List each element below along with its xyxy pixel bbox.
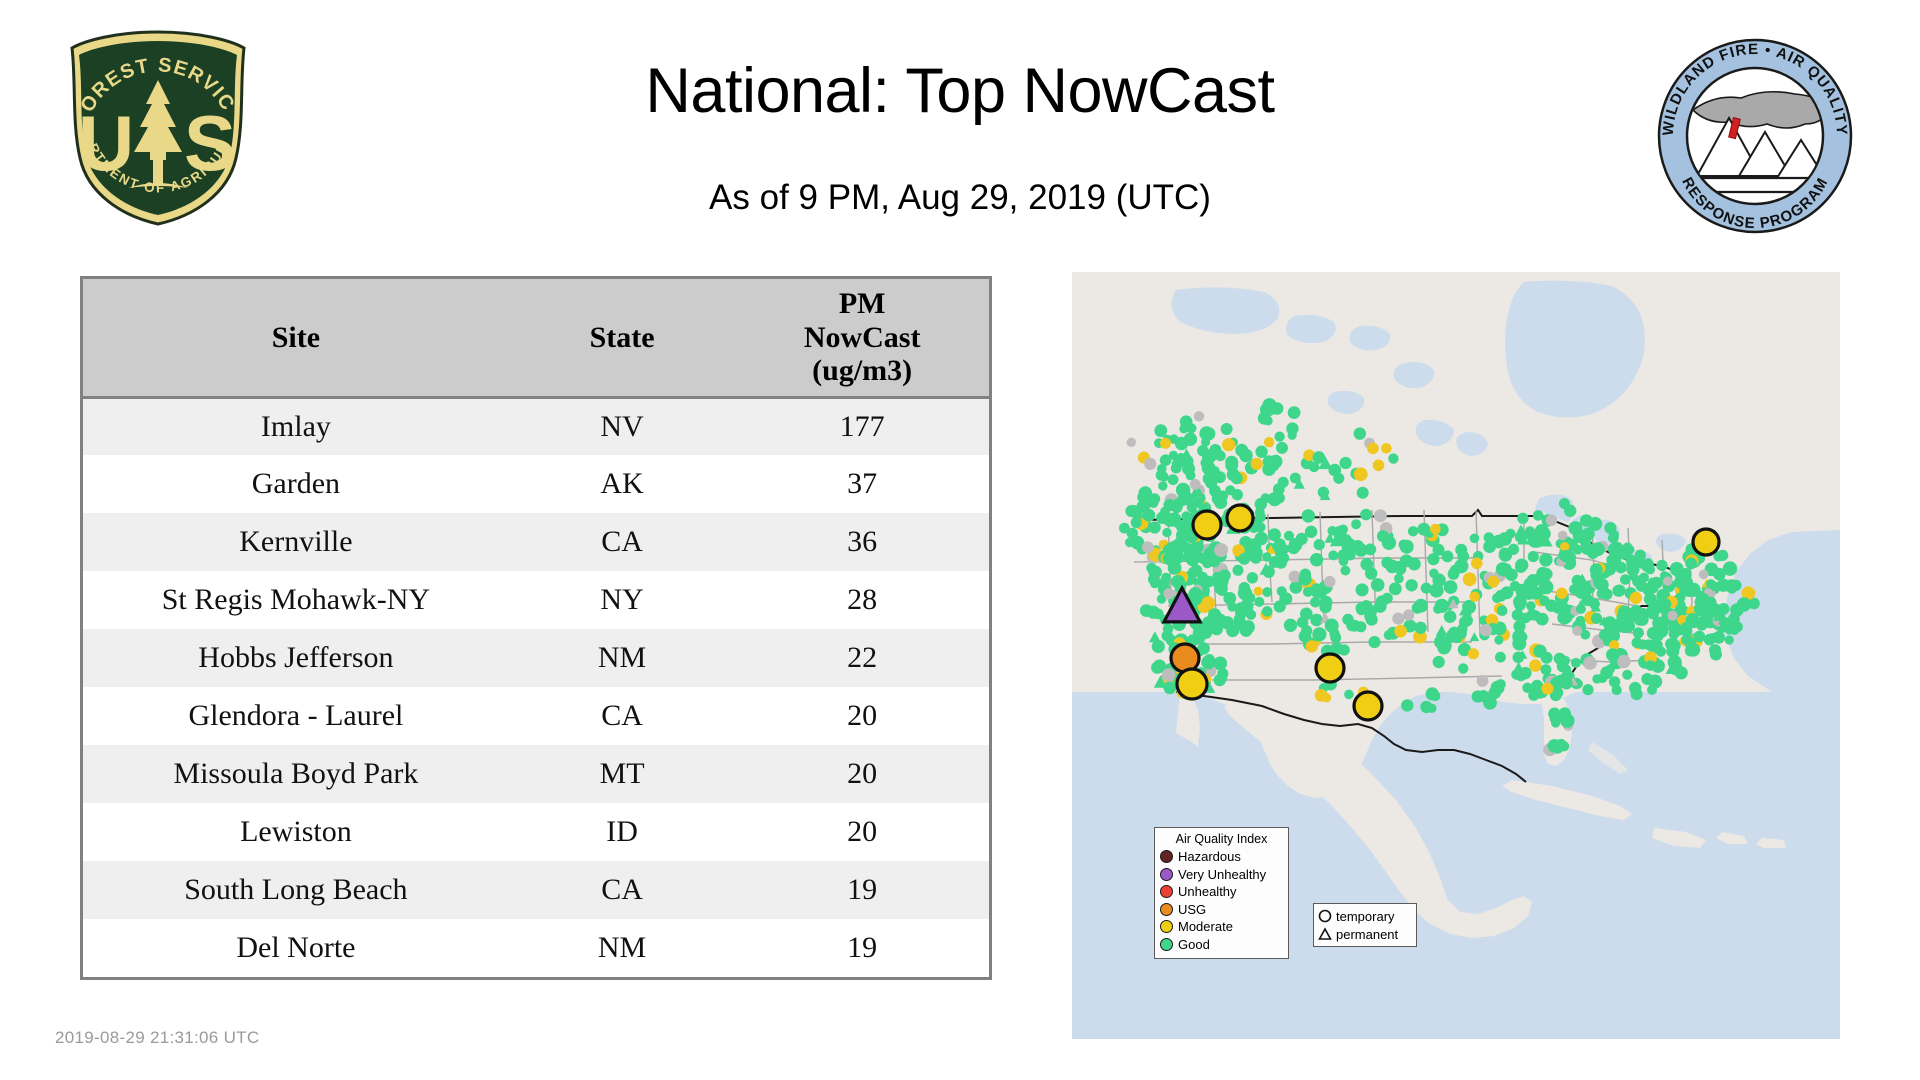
- monitor-marker-temporary[interactable]: [1633, 627, 1644, 638]
- monitor-marker-temporary[interactable]: [1583, 656, 1597, 670]
- pm-nowcast-cell: 20: [735, 745, 989, 803]
- monitor-marker-temporary[interactable]: [1686, 643, 1700, 657]
- monitor-marker-temporary[interactable]: [1160, 438, 1171, 449]
- highlighted-monitor-temporary[interactable]: [1693, 529, 1719, 555]
- monitor-marker-temporary[interactable]: [1279, 553, 1290, 564]
- monitor-marker-temporary[interactable]: [1247, 572, 1258, 583]
- monitor-marker-temporary[interactable]: [1522, 586, 1536, 600]
- monitor-marker-temporary[interactable]: [1190, 479, 1201, 490]
- monitor-marker-temporary[interactable]: [1665, 638, 1677, 650]
- monitor-marker-temporary[interactable]: [1354, 543, 1367, 556]
- page-title: National: Top NowCast: [300, 58, 1620, 124]
- monitor-marker-temporary[interactable]: [1203, 576, 1215, 588]
- monitor-marker-temporary[interactable]: [1600, 666, 1613, 679]
- monitor-marker-temporary[interactable]: [1194, 411, 1204, 421]
- monitor-marker-temporary[interactable]: [1310, 597, 1321, 608]
- monitor-marker-temporary[interactable]: [1209, 444, 1221, 456]
- monitor-marker-temporary[interactable]: [1526, 601, 1536, 611]
- pm-nowcast-cell: 37: [735, 455, 989, 513]
- monitor-marker-temporary[interactable]: [1571, 658, 1581, 668]
- monitor-marker-temporary[interactable]: [1685, 558, 1697, 570]
- monitor-marker-temporary[interactable]: [1541, 664, 1552, 675]
- monitor-marker-temporary[interactable]: [1575, 585, 1589, 599]
- monitor-marker-temporary[interactable]: [1530, 534, 1544, 548]
- monitor-marker-temporary[interactable]: [1582, 684, 1593, 695]
- monitor-marker-temporary[interactable]: [1320, 596, 1333, 609]
- monitor-marker-temporary[interactable]: [1164, 588, 1175, 599]
- monitor-marker-temporary[interactable]: [1591, 542, 1605, 556]
- monitor-marker-temporary[interactable]: [1576, 604, 1586, 614]
- monitor-marker-temporary[interactable]: [1153, 609, 1164, 620]
- monitor-marker-temporary[interactable]: [1279, 592, 1292, 605]
- monitor-marker-temporary[interactable]: [1656, 560, 1667, 571]
- aqi-swatch-icon: [1160, 938, 1173, 951]
- monitor-marker-temporary[interactable]: [1232, 489, 1243, 500]
- monitor-marker-temporary[interactable]: [1354, 467, 1368, 481]
- monitor-marker-temporary[interactable]: [1554, 653, 1566, 665]
- monitor-marker-temporary[interactable]: [1284, 619, 1297, 632]
- monitor-marker-temporary[interactable]: [1262, 587, 1272, 597]
- monitor-marker-temporary[interactable]: [1197, 445, 1208, 456]
- monitor-marker-temporary[interactable]: [1699, 570, 1709, 580]
- monitor-marker-temporary[interactable]: [1269, 455, 1283, 469]
- monitor-marker-temporary[interactable]: [1188, 567, 1198, 577]
- monitor-marker-temporary[interactable]: [1634, 615, 1645, 626]
- monitor-marker-temporary[interactable]: [1541, 568, 1553, 580]
- monitor-marker-temporary[interactable]: [1258, 412, 1271, 425]
- monitor-marker-temporary[interactable]: [1328, 526, 1338, 536]
- monitor-marker-temporary[interactable]: [1373, 460, 1385, 472]
- monitor-marker-temporary[interactable]: [1384, 630, 1394, 640]
- column-header-pm-line1: PM: [739, 287, 985, 321]
- monitor-marker-temporary[interactable]: [1672, 660, 1682, 670]
- monitor-marker-temporary[interactable]: [1625, 554, 1636, 565]
- monitor-marker-temporary[interactable]: [1426, 687, 1439, 700]
- monitor-marker-temporary[interactable]: [1512, 609, 1524, 621]
- monitor-marker-temporary[interactable]: [1303, 587, 1313, 597]
- monitor-marker-temporary[interactable]: [1725, 579, 1739, 593]
- monitor-marker-temporary[interactable]: [1351, 519, 1361, 529]
- monitor-marker-temporary[interactable]: [1725, 635, 1734, 644]
- monitor-marker-temporary[interactable]: [1505, 569, 1518, 582]
- monitor-marker-temporary[interactable]: [1340, 457, 1352, 469]
- highlighted-monitor-temporary[interactable]: [1354, 692, 1382, 720]
- monitor-marker-temporary[interactable]: [1389, 582, 1402, 595]
- monitor-marker-temporary[interactable]: [1264, 437, 1274, 447]
- table-row: KernvilleCA36: [83, 513, 989, 571]
- monitor-marker-temporary[interactable]: [1463, 572, 1477, 586]
- monitor-marker-temporary[interactable]: [1188, 587, 1202, 601]
- monitor-marker-temporary[interactable]: [1515, 559, 1528, 572]
- monitor-marker-temporary[interactable]: [1515, 670, 1527, 682]
- monitor-marker-temporary[interactable]: [1539, 596, 1549, 606]
- monitor-marker-temporary[interactable]: [1333, 473, 1344, 484]
- monitor-marker-temporary[interactable]: [1338, 525, 1348, 535]
- monitor-type-legend-label: permanent: [1336, 928, 1398, 941]
- state-cell: CA: [509, 513, 736, 571]
- monitor-marker-temporary[interactable]: [1590, 563, 1603, 576]
- monitor-marker-temporary[interactable]: [1365, 567, 1377, 579]
- monitor-marker-temporary[interactable]: [1198, 553, 1210, 565]
- monitor-marker-temporary[interactable]: [1553, 712, 1563, 722]
- pm-nowcast-cell: 19: [735, 861, 989, 919]
- monitor-marker-temporary[interactable]: [1539, 553, 1552, 566]
- highlighted-monitor-temporary[interactable]: [1227, 505, 1253, 531]
- monitor-marker-temporary[interactable]: [1356, 583, 1369, 596]
- monitor-marker-temporary[interactable]: [1368, 636, 1380, 648]
- monitor-marker-temporary[interactable]: [1314, 539, 1325, 550]
- monitor-marker-temporary[interactable]: [1255, 532, 1268, 545]
- monitor-marker-temporary[interactable]: [1187, 550, 1199, 562]
- monitor-marker-temporary[interactable]: [1408, 526, 1418, 536]
- monitor-marker-temporary[interactable]: [1513, 652, 1525, 664]
- monitor-marker-temporary[interactable]: [1254, 597, 1264, 607]
- monitor-marker-temporary[interactable]: [1354, 427, 1366, 439]
- monitor-marker-temporary[interactable]: [1231, 472, 1243, 484]
- monitor-marker-temporary[interactable]: [1617, 655, 1630, 668]
- monitor-marker-temporary[interactable]: [1169, 451, 1178, 460]
- monitor-marker-temporary[interactable]: [1621, 619, 1635, 633]
- monitor-marker-temporary[interactable]: [1427, 553, 1439, 565]
- monitor-marker-temporary[interactable]: [1709, 644, 1721, 656]
- monitor-marker-temporary[interactable]: [1374, 509, 1387, 522]
- monitor-marker-temporary[interactable]: [1388, 453, 1398, 463]
- monitor-marker-temporary[interactable]: [1140, 604, 1153, 617]
- monitor-marker-temporary[interactable]: [1225, 459, 1238, 472]
- monitor-marker-temporary[interactable]: [1442, 551, 1454, 563]
- monitor-marker-temporary[interactable]: [1560, 550, 1573, 563]
- monitor-marker-temporary[interactable]: [1222, 438, 1235, 451]
- monitor-marker-temporary[interactable]: [1274, 432, 1284, 442]
- aqi-legend-label: Good: [1178, 938, 1210, 951]
- monitor-marker-temporary[interactable]: [1457, 551, 1469, 563]
- monitor-marker-temporary[interactable]: [1184, 433, 1197, 446]
- monitor-marker-temporary[interactable]: [1450, 565, 1461, 576]
- monitor-marker-temporary[interactable]: [1381, 443, 1392, 454]
- monitor-marker-temporary[interactable]: [1706, 579, 1716, 589]
- monitor-marker-temporary[interactable]: [1162, 668, 1176, 682]
- monitor-marker-temporary[interactable]: [1559, 741, 1569, 751]
- monitor-marker-temporary[interactable]: [1262, 552, 1271, 561]
- monitor-marker-temporary[interactable]: [1377, 530, 1389, 542]
- monitor-marker-temporary[interactable]: [1572, 626, 1582, 636]
- monitor-marker-temporary[interactable]: [1218, 578, 1228, 588]
- monitor-marker-temporary[interactable]: [1360, 509, 1372, 521]
- monitor-marker-temporary[interactable]: [1469, 592, 1479, 602]
- monitor-marker-temporary[interactable]: [1433, 656, 1445, 668]
- monitor-marker-temporary[interactable]: [1392, 613, 1404, 625]
- highlighted-monitor-temporary[interactable]: [1193, 511, 1221, 539]
- monitor-marker-temporary[interactable]: [1648, 583, 1659, 594]
- monitor-marker-temporary[interactable]: [1612, 685, 1622, 695]
- monitor-marker-temporary[interactable]: [1484, 532, 1495, 543]
- monitor-marker-temporary[interactable]: [1221, 616, 1234, 629]
- monitor-marker-temporary[interactable]: [1168, 474, 1179, 485]
- monitor-marker-temporary[interactable]: [1180, 492, 1193, 505]
- monitor-marker-temporary[interactable]: [1127, 528, 1138, 539]
- monitor-marker-temporary[interactable]: [1430, 524, 1441, 535]
- monitor-marker-temporary[interactable]: [1238, 553, 1250, 565]
- monitor-marker-temporary[interactable]: [1437, 641, 1451, 655]
- monitor-marker-temporary[interactable]: [1591, 613, 1602, 624]
- monitor-marker-temporary[interactable]: [1462, 600, 1476, 614]
- monitor-marker-temporary[interactable]: [1180, 415, 1193, 428]
- monitor-marker-temporary[interactable]: [1670, 562, 1684, 576]
- monitor-marker-temporary[interactable]: [1528, 551, 1539, 562]
- state-cell: NM: [509, 919, 736, 977]
- pm-nowcast-cell: 22: [735, 629, 989, 687]
- monitor-marker-temporary[interactable]: [1647, 685, 1657, 695]
- monitor-marker-temporary[interactable]: [1592, 674, 1601, 683]
- monitor-marker-temporary[interactable]: [1495, 679, 1505, 689]
- monitor-marker-temporary[interactable]: [1158, 481, 1167, 490]
- monitor-marker-temporary[interactable]: [1310, 553, 1323, 566]
- monitor-marker-temporary[interactable]: [1201, 655, 1215, 669]
- monitor-marker-temporary[interactable]: [1737, 597, 1751, 611]
- monitor-marker-temporary[interactable]: [1647, 604, 1660, 617]
- monitor-marker-temporary[interactable]: [1214, 471, 1226, 483]
- site-cell: Lewiston: [83, 803, 509, 861]
- monitor-marker-temporary[interactable]: [1632, 576, 1643, 587]
- table-row: GardenAK37: [83, 455, 989, 513]
- monitor-marker-temporary[interactable]: [1300, 569, 1311, 580]
- monitor-marker-temporary[interactable]: [1468, 648, 1479, 659]
- monitor-marker-temporary[interactable]: [1667, 611, 1677, 621]
- monitor-marker-temporary[interactable]: [1457, 624, 1467, 634]
- monitor-marker-temporary[interactable]: [1529, 659, 1541, 671]
- monitor-marker-temporary[interactable]: [1221, 423, 1233, 435]
- monitor-marker-temporary[interactable]: [1355, 621, 1366, 632]
- monitor-marker-temporary[interactable]: [1239, 450, 1251, 462]
- monitor-marker-temporary[interactable]: [1630, 592, 1642, 604]
- monitor-marker-temporary[interactable]: [1250, 552, 1262, 564]
- monitor-marker-temporary[interactable]: [1254, 587, 1263, 596]
- monitor-marker-temporary[interactable]: [1615, 562, 1627, 574]
- monitor-marker-temporary[interactable]: [1660, 598, 1672, 610]
- column-header-site: Site: [83, 279, 509, 397]
- monitor-marker-temporary[interactable]: [1210, 558, 1219, 567]
- monitor-marker-temporary[interactable]: [1622, 670, 1632, 680]
- monitor-marker-temporary[interactable]: [1483, 696, 1497, 710]
- monitor-marker-temporary[interactable]: [1289, 538, 1303, 552]
- monitor-marker-temporary[interactable]: [1156, 512, 1168, 524]
- monitor-marker-temporary[interactable]: [1172, 575, 1185, 588]
- monitor-marker-temporary[interactable]: [1150, 578, 1160, 588]
- table-row: ImlayNV177: [83, 397, 989, 455]
- state-cell: NY: [509, 571, 736, 629]
- table-row: Del NorteNM19: [83, 919, 989, 977]
- page-subtitle: As of 9 PM, Aug 29, 2019 (UTC): [300, 178, 1620, 218]
- monitor-marker-temporary[interactable]: [1412, 602, 1423, 613]
- monitor-marker-temporary[interactable]: [1401, 699, 1413, 711]
- monitor-marker-temporary[interactable]: [1367, 443, 1379, 455]
- highlighted-monitor-temporary[interactable]: [1177, 669, 1207, 699]
- monitor-marker-temporary[interactable]: [1329, 628, 1339, 638]
- monitor-marker-temporary[interactable]: [1154, 424, 1167, 437]
- monitor-marker-temporary[interactable]: [1605, 621, 1615, 631]
- monitor-marker-temporary[interactable]: [1162, 528, 1171, 537]
- monitor-marker-temporary[interactable]: [1559, 498, 1570, 509]
- monitor-marker-temporary[interactable]: [1324, 576, 1336, 588]
- monitor-marker-temporary[interactable]: [1480, 624, 1492, 636]
- monitor-marker-temporary[interactable]: [1286, 422, 1298, 434]
- monitor-marker-temporary[interactable]: [1215, 659, 1227, 671]
- monitor-marker-temporary[interactable]: [1209, 485, 1221, 497]
- monitor-marker-temporary[interactable]: [1176, 540, 1189, 553]
- monitor-marker-temporary[interactable]: [1433, 604, 1442, 613]
- monitor-marker-temporary[interactable]: [1276, 442, 1288, 454]
- state-cell: NM: [509, 629, 736, 687]
- monitor-marker-temporary[interactable]: [1399, 540, 1409, 550]
- table-body: ImlayNV177GardenAK37KernvilleCA36St Regi…: [83, 397, 989, 977]
- table-row: Hobbs JeffersonNM22: [83, 629, 989, 687]
- monitor-marker-temporary[interactable]: [1255, 446, 1267, 458]
- monitor-marker-temporary[interactable]: [1533, 645, 1546, 658]
- monitor-marker-temporary[interactable]: [1371, 578, 1385, 592]
- monitor-marker-temporary[interactable]: [1645, 660, 1656, 671]
- monitor-marker-temporary[interactable]: [1202, 427, 1215, 440]
- monitor-marker-temporary[interactable]: [1495, 652, 1506, 663]
- monitor-marker-temporary[interactable]: [1240, 599, 1254, 613]
- monitor-marker-temporary[interactable]: [1338, 549, 1349, 560]
- monitor-marker-temporary[interactable]: [1395, 564, 1406, 575]
- monitor-marker-temporary[interactable]: [1394, 574, 1404, 584]
- monitor-marker-temporary[interactable]: [1606, 555, 1616, 565]
- monitor-marker-temporary[interactable]: [1618, 605, 1632, 619]
- monitor-marker-temporary[interactable]: [1695, 597, 1706, 608]
- monitor-marker-temporary[interactable]: [1322, 693, 1331, 702]
- monitor-marker-temporary[interactable]: [1694, 631, 1706, 643]
- monitor-marker-temporary[interactable]: [1604, 522, 1616, 534]
- monitor-marker-temporary[interactable]: [1186, 471, 1196, 481]
- monitor-marker-temporary[interactable]: [1142, 541, 1154, 553]
- highlighted-monitor-temporary[interactable]: [1316, 654, 1344, 682]
- monitor-marker-temporary[interactable]: [1673, 625, 1684, 636]
- monitor-marker-temporary[interactable]: [1494, 635, 1503, 644]
- monitor-marker-temporary[interactable]: [1255, 507, 1265, 517]
- monitor-marker-temporary[interactable]: [1214, 543, 1228, 557]
- monitor-marker-temporary[interactable]: [1273, 483, 1285, 495]
- monitor-marker-temporary[interactable]: [1588, 517, 1602, 531]
- monitor-marker-temporary[interactable]: [1658, 623, 1669, 634]
- monitor-marker-temporary[interactable]: [1356, 604, 1367, 615]
- fs-logo-letter-s: S: [184, 99, 236, 187]
- national-monitor-map[interactable]: Air Quality Index HazardousVery Unhealth…: [1072, 272, 1840, 1039]
- monitor-marker-temporary[interactable]: [1506, 529, 1516, 539]
- monitor-marker-temporary[interactable]: [1606, 648, 1619, 661]
- monitor-marker-temporary[interactable]: [1562, 612, 1573, 623]
- monitor-marker-temporary[interactable]: [1142, 509, 1155, 522]
- monitor-marker-temporary[interactable]: [1719, 617, 1730, 628]
- monitor-marker-temporary[interactable]: [1262, 398, 1276, 412]
- monitor-marker-temporary[interactable]: [1305, 526, 1317, 538]
- monitor-marker-temporary[interactable]: [1497, 605, 1508, 616]
- monitor-marker-temporary[interactable]: [1599, 629, 1610, 640]
- monitor-marker-temporary[interactable]: [1546, 515, 1557, 526]
- monitor-marker-temporary[interactable]: [1168, 561, 1182, 575]
- monitor-marker-temporary[interactable]: [1420, 701, 1432, 713]
- monitor-marker-temporary[interactable]: [1713, 568, 1726, 581]
- monitor-marker-temporary[interactable]: [1718, 603, 1730, 615]
- monitor-marker-temporary[interactable]: [1251, 458, 1263, 470]
- monitor-marker-temporary[interactable]: [1162, 630, 1173, 641]
- monitor-type-legend-item: temporary: [1318, 907, 1412, 925]
- monitor-marker-temporary[interactable]: [1508, 544, 1519, 555]
- monitor-marker-temporary[interactable]: [1512, 629, 1526, 643]
- monitor-marker-temporary[interactable]: [1216, 673, 1227, 684]
- monitor-marker-temporary[interactable]: [1394, 625, 1407, 638]
- table-header-row: Site State PM NowCast (ug/m3): [83, 279, 989, 397]
- monitor-marker-temporary[interactable]: [1262, 606, 1273, 617]
- monitor-marker-temporary[interactable]: [1274, 538, 1286, 550]
- monitor-marker-temporary[interactable]: [1701, 606, 1713, 618]
- monitor-marker-temporary[interactable]: [1302, 509, 1315, 522]
- monitor-marker-temporary[interactable]: [1471, 558, 1483, 570]
- generated-timestamp: 2019-08-29 21:31:06 UTC: [55, 1028, 259, 1048]
- monitor-marker-temporary[interactable]: [1477, 675, 1489, 687]
- monitor-marker-temporary[interactable]: [1233, 565, 1244, 576]
- monitor-marker-temporary[interactable]: [1131, 517, 1142, 528]
- monitor-marker-temporary[interactable]: [1560, 677, 1572, 689]
- monitor-marker-temporary[interactable]: [1429, 569, 1439, 579]
- monitor-marker-temporary[interactable]: [1414, 622, 1426, 634]
- monitor-marker-temporary[interactable]: [1629, 682, 1641, 694]
- pm-nowcast-cell: 20: [735, 687, 989, 745]
- monitor-marker-temporary[interactable]: [1238, 586, 1252, 600]
- aqi-legend-item: Good: [1160, 936, 1283, 954]
- monitor-marker-temporary[interactable]: [1530, 610, 1541, 621]
- monitor-marker-temporary[interactable]: [1288, 406, 1301, 419]
- monitor-marker-temporary[interactable]: [1613, 585, 1625, 597]
- monitor-marker-temporary[interactable]: [1382, 593, 1393, 604]
- monitor-marker-temporary[interactable]: [1223, 592, 1236, 605]
- pm-nowcast-cell: 36: [735, 513, 989, 571]
- monitor-marker-temporary[interactable]: [1129, 505, 1139, 515]
- monitor-marker-temporary[interactable]: [1458, 663, 1468, 673]
- monitor-marker-temporary[interactable]: [1208, 610, 1221, 623]
- monitor-marker-temporary[interactable]: [1340, 566, 1350, 576]
- monitor-marker-temporary[interactable]: [1146, 563, 1156, 573]
- monitor-marker-temporary[interactable]: [1556, 588, 1567, 599]
- monitor-marker-temporary[interactable]: [1405, 579, 1417, 591]
- monitor-marker-temporary[interactable]: [1306, 640, 1318, 652]
- monitor-marker-temporary[interactable]: [1149, 493, 1160, 504]
- monitor-marker-temporary[interactable]: [1328, 550, 1338, 560]
- monitor-marker-temporary[interactable]: [1160, 472, 1169, 481]
- monitor-marker-temporary[interactable]: [1681, 635, 1691, 645]
- pm-nowcast-cell: 19: [735, 919, 989, 977]
- monitor-marker-temporary[interactable]: [1444, 610, 1457, 623]
- monitor-marker-temporary[interactable]: [1144, 458, 1156, 470]
- monitor-marker-temporary[interactable]: [1444, 580, 1458, 594]
- state-cell: MT: [509, 745, 736, 803]
- monitor-marker-temporary[interactable]: [1533, 510, 1544, 521]
- monitor-marker-temporary[interactable]: [1127, 438, 1136, 447]
- monitor-marker-temporary[interactable]: [1495, 590, 1507, 602]
- monitor-marker-temporary[interactable]: [1488, 576, 1500, 588]
- monitor-marker-temporary[interactable]: [1344, 690, 1354, 700]
- monitor-marker-temporary[interactable]: [1470, 534, 1480, 544]
- monitor-marker-temporary[interactable]: [1558, 531, 1568, 541]
- monitor-marker-temporary[interactable]: [1517, 513, 1528, 524]
- monitor-marker-temporary[interactable]: [1542, 683, 1554, 695]
- table-row: St Regis Mohawk-NYNY28: [83, 571, 989, 629]
- aqi-legend-label: USG: [1178, 903, 1206, 916]
- monitor-marker-temporary[interactable]: [1357, 487, 1369, 499]
- monitor-marker-temporary[interactable]: [1663, 577, 1672, 586]
- monitor-marker-temporary[interactable]: [1263, 566, 1275, 578]
- monitor-marker-temporary[interactable]: [1539, 580, 1553, 594]
